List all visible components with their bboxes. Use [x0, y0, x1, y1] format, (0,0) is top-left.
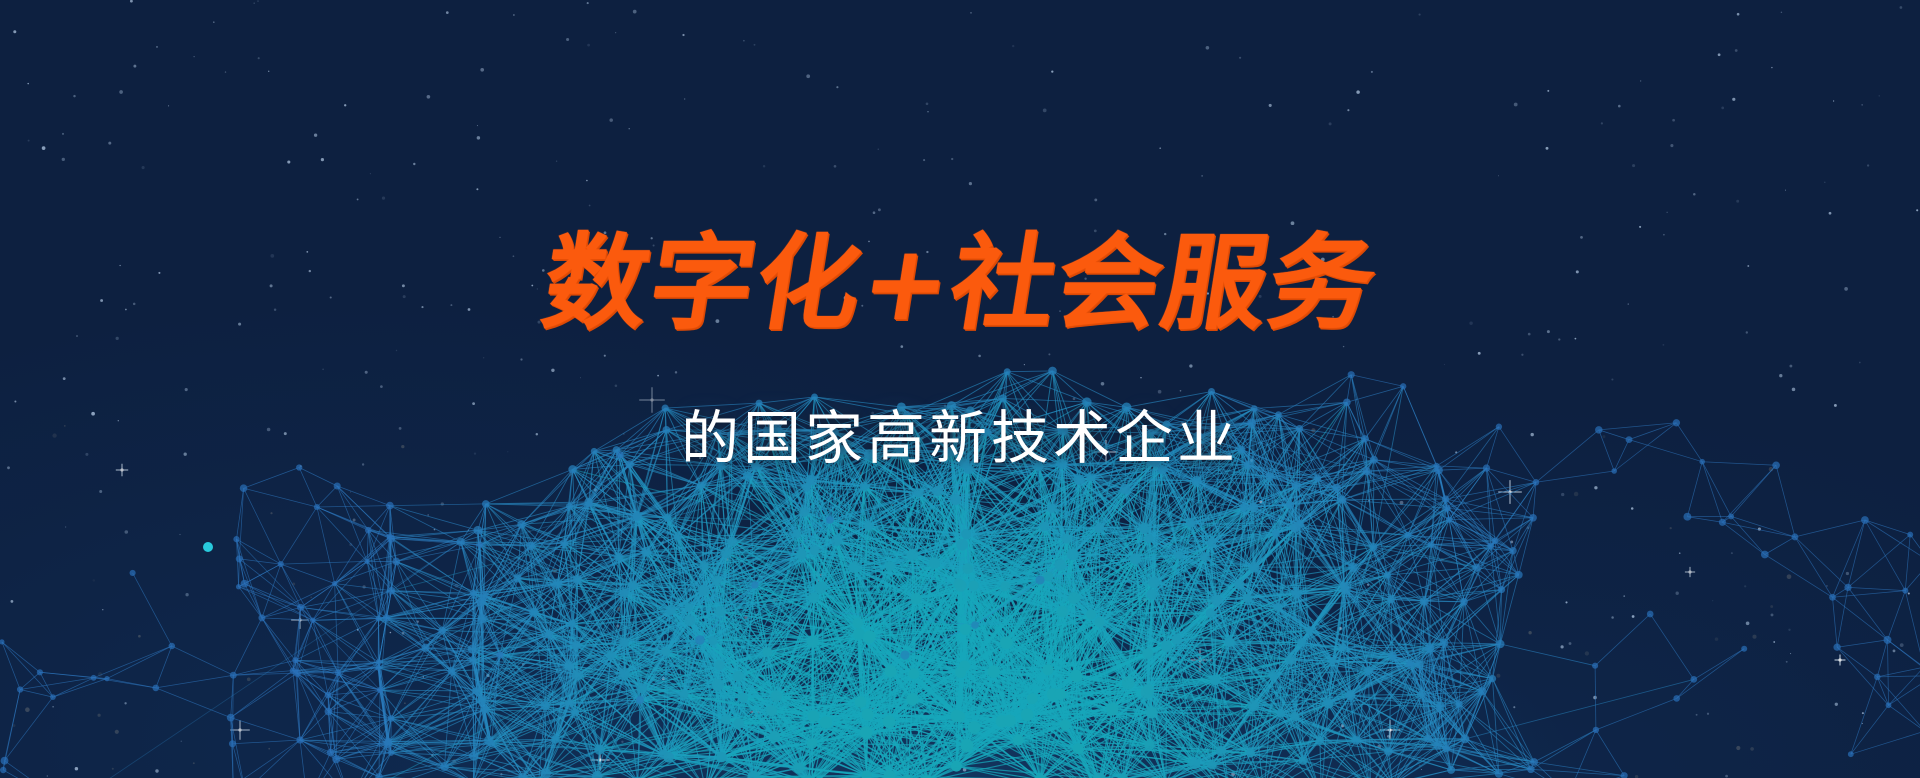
starfield-decoration: [0, 0, 1920, 778]
background-glow: [0, 0, 1920, 778]
network-mesh-decoration: [0, 0, 1920, 778]
hero-banner: 数字化+社会服务 的国家高新技术企业: [0, 0, 1920, 778]
banner-subtitle: 的国家高新技术企业: [0, 403, 1920, 473]
banner-headline: 数字化+社会服务: [0, 231, 1920, 335]
